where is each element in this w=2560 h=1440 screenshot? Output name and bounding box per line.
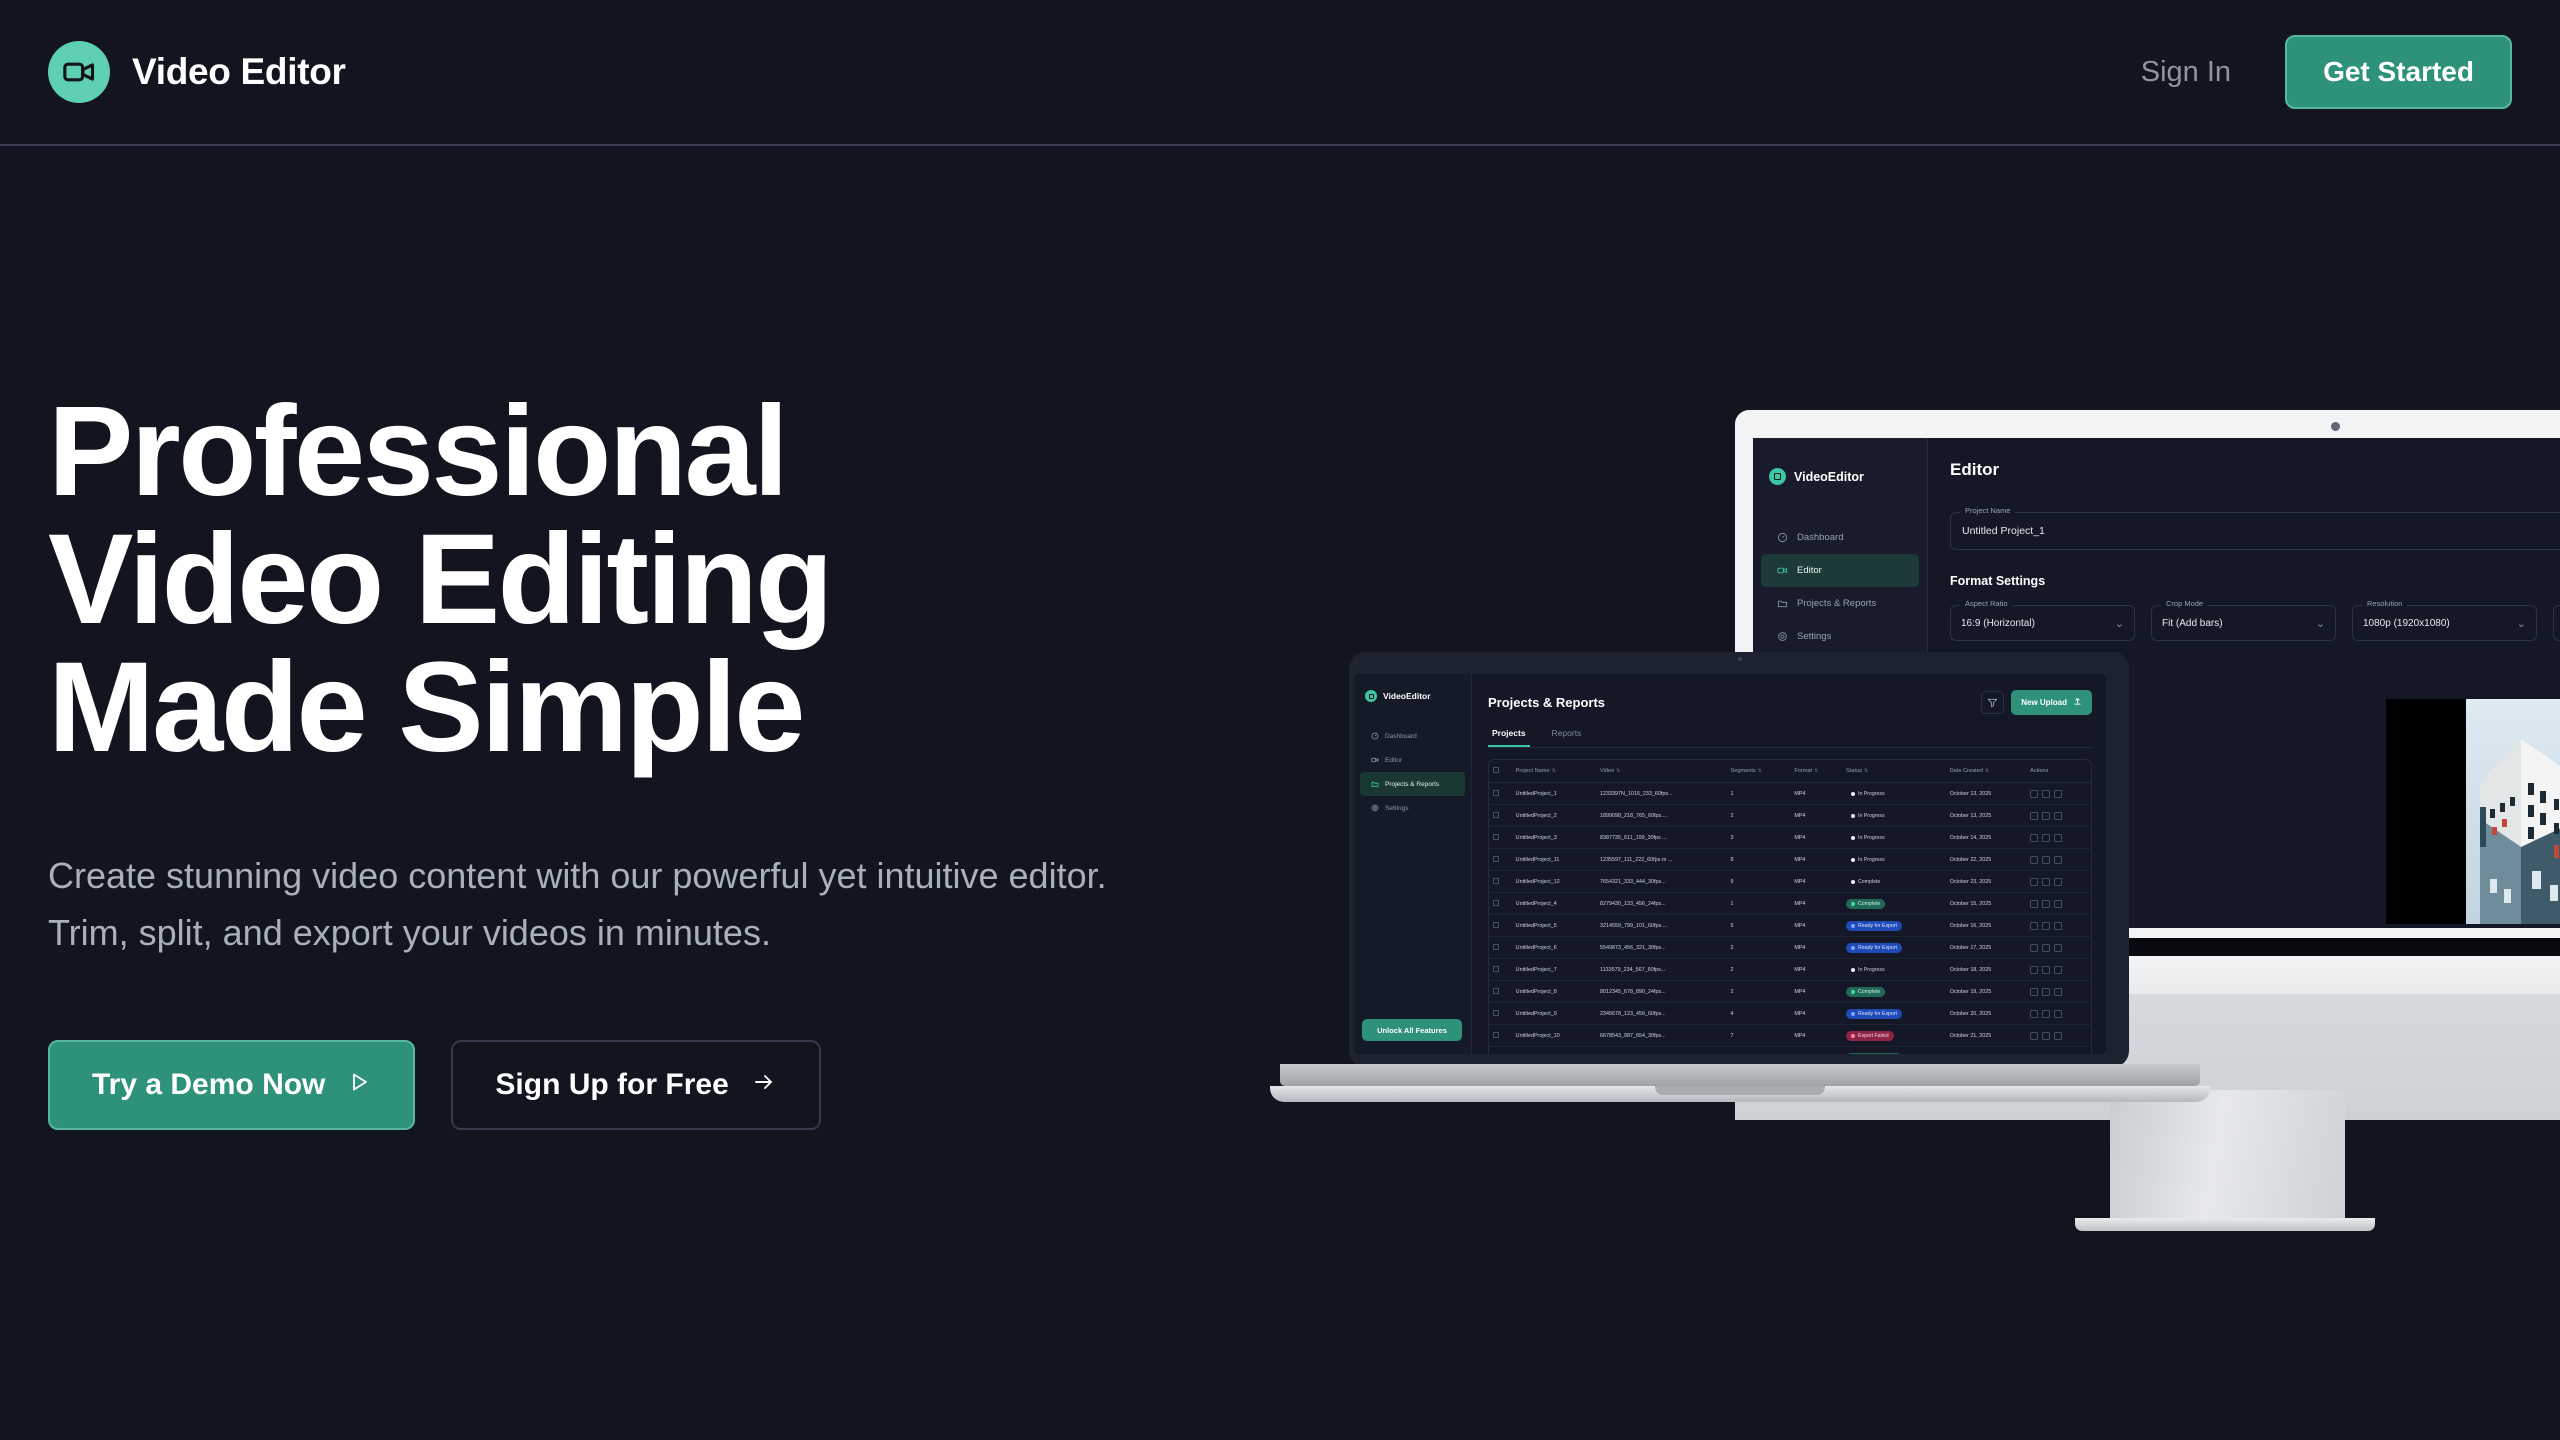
- cell-video: 1899098_218_765_60fps....: [1596, 805, 1727, 827]
- cell-format: MP4: [1790, 871, 1842, 893]
- video-frame-image: [2466, 699, 2560, 924]
- status-badge: In Progress: [1846, 811, 1890, 821]
- row-checkbox-cell[interactable]: [1489, 937, 1512, 959]
- upload-icon: [2073, 697, 2082, 708]
- row-checkbox-cell[interactable]: [1489, 893, 1512, 915]
- edit-icon[interactable]: [2030, 966, 2038, 974]
- edit-icon[interactable]: [2030, 1032, 2038, 1040]
- cell-video: 1235597_111_222_60fps.m ...: [1596, 849, 1727, 871]
- cell-segments: 3: [1727, 827, 1791, 849]
- delete-icon[interactable]: [2054, 1032, 2062, 1040]
- edit-icon[interactable]: [2030, 922, 2038, 930]
- sidebar-label: Dashboard: [1797, 532, 1843, 543]
- monitor-foot: [2075, 1218, 2375, 1231]
- download-icon[interactable]: [2042, 922, 2050, 930]
- cell-project-name: UntitledProject_9: [1512, 1003, 1596, 1025]
- row-checkbox[interactable]: [1493, 834, 1499, 840]
- cell-segments: 2: [1727, 959, 1791, 981]
- cell-format: MP4: [1790, 783, 1842, 805]
- edit-icon[interactable]: [2030, 856, 2038, 864]
- table-row[interactable]: UntitledProject_21899098_218_765_60fps..…: [1489, 805, 2091, 827]
- cell-format: MP4: [1790, 959, 1842, 981]
- cell-video: 7654321_333_444_30fps...: [1596, 871, 1727, 893]
- cell-status: In Progress: [1842, 805, 1946, 827]
- row-checkbox[interactable]: [1493, 856, 1499, 862]
- cell-status: Ready for Export: [1842, 1047, 1946, 1055]
- sidebar-item-projects-reports[interactable]: Projects & Reports: [1761, 587, 1919, 620]
- filter-icon[interactable]: [1981, 691, 2004, 714]
- product-mockup-illustration: VideoEditor Dashboard Editor Projects & …: [1340, 380, 2560, 1260]
- tab-reports[interactable]: Reports: [1548, 728, 1586, 747]
- cell-actions[interactable]: [2026, 981, 2091, 1003]
- cell-project-name: UntitledProject_8: [1512, 981, 1596, 1003]
- cell-segments: 7: [1727, 1025, 1791, 1047]
- folder-icon: [1371, 780, 1379, 788]
- table-row[interactable]: UntitledProject_48279430_133_456_24fps..…: [1489, 893, 2091, 915]
- table-row[interactable]: UntitledProject_11233397N_1015_233_60fps…: [1489, 783, 2091, 805]
- column-header[interactable]: Status⇅: [1842, 760, 1946, 783]
- download-icon[interactable]: [2042, 812, 2050, 820]
- chevron-down-icon: ⌄: [2517, 617, 2526, 630]
- cell-video: 2345678_123_456_60fps...: [1596, 1003, 1727, 1025]
- row-checkbox[interactable]: [1493, 988, 1499, 994]
- edit-icon[interactable]: [2030, 988, 2038, 996]
- status-badge: Complete: [1846, 877, 1885, 887]
- status-badge: In Progress: [1846, 855, 1890, 865]
- sort-icon[interactable]: ⇅: [1758, 768, 1762, 774]
- column-header[interactable]: Video⇅: [1596, 760, 1727, 783]
- hero-section: Professional Video Editing Made Simple C…: [48, 388, 1198, 1130]
- app-name: VideoEditor: [1383, 691, 1431, 701]
- projects-header-actions: New Upload: [1981, 690, 2092, 715]
- status-dot-icon: [1851, 946, 1855, 950]
- sort-icon[interactable]: ⇅: [1814, 768, 1818, 774]
- laptop-base: [1280, 1064, 2200, 1086]
- download-icon[interactable]: [2042, 790, 2050, 798]
- delete-icon[interactable]: [2054, 790, 2062, 798]
- folder-icon: [1777, 598, 1788, 609]
- laptop-mockup: VideoEditor Dashboard Editor Projects & …: [1340, 652, 2140, 1122]
- sidebar-label: Settings: [1385, 805, 1409, 812]
- sort-icon[interactable]: ⇅: [1552, 768, 1556, 774]
- cell-segments: 10: [1727, 1047, 1791, 1055]
- select-all-checkbox[interactable]: [1493, 767, 1499, 773]
- hero-line-1: Professional: [48, 388, 1198, 516]
- monitor-stand: [2110, 1090, 2345, 1220]
- cell-format: MP4: [1790, 981, 1842, 1003]
- gauge-icon: [1371, 732, 1379, 740]
- cell-segments: 1: [1727, 783, 1791, 805]
- cell-format: MP4: [1790, 915, 1842, 937]
- gear-icon: [1777, 631, 1788, 642]
- status-dot-icon: [1851, 924, 1855, 928]
- download-icon[interactable]: [2042, 1010, 2050, 1018]
- cell-video: 8012345_678_890_24fps...: [1596, 981, 1727, 1003]
- hero-line-3: Made Simple: [48, 644, 1198, 772]
- cell-status: Ready for Export: [1842, 937, 1946, 959]
- edit-icon[interactable]: [2030, 944, 2038, 952]
- download-icon[interactable]: [2042, 1054, 2050, 1055]
- row-checkbox[interactable]: [1493, 900, 1499, 906]
- delete-icon[interactable]: [2054, 922, 2062, 930]
- cell-date-created: October 18, 2025: [1946, 959, 2026, 981]
- cell-format: MP4: [1790, 805, 1842, 827]
- header-actions: Sign In Get Started: [2141, 35, 2512, 109]
- download-icon[interactable]: [2042, 944, 2050, 952]
- sidebar-item-editor[interactable]: Editor: [1360, 748, 1465, 772]
- column-header[interactable]: Format⇅: [1790, 760, 1842, 783]
- play-triangle-icon: [347, 1068, 371, 1102]
- table-row[interactable]: UntitledProject_65549873_456_321_30fps..…: [1489, 937, 2091, 959]
- cell-status: In Progress: [1842, 827, 1946, 849]
- chevron-down-icon: ⌄: [2316, 617, 2325, 630]
- laptop-camera-icon: [1701, 652, 1779, 665]
- row-checkbox[interactable]: [1493, 812, 1499, 818]
- status-badge: Complete: [1846, 899, 1885, 909]
- cell-date-created: October 13, 2025: [1946, 805, 2026, 827]
- editor-titlebar: Editor Save Exp: [1950, 460, 2560, 494]
- editor-page-title: Editor: [1950, 460, 1999, 480]
- cell-project-name: UntitledProject_1: [1512, 783, 1596, 805]
- cell-segments: 2: [1727, 981, 1791, 1003]
- delete-icon[interactable]: [2054, 834, 2062, 842]
- table-row[interactable]: UntitledProject_92345678_123_456_60fps..…: [1489, 1003, 2091, 1025]
- laptop-notch-base: [1655, 1086, 1825, 1095]
- cell-status: Ready for Export: [1842, 1003, 1946, 1025]
- cell-project-name: UntitledProject_13: [1512, 1047, 1596, 1055]
- status-badge: In Progress: [1846, 833, 1890, 843]
- sidebar-item-editor[interactable]: Editor: [1761, 554, 1919, 587]
- sidebar-item-settings[interactable]: Settings: [1360, 796, 1465, 820]
- cell-date-created: October 13, 2025: [1946, 783, 2026, 805]
- edit-icon[interactable]: [2030, 1010, 2038, 1018]
- sort-icon[interactable]: ⇅: [1985, 768, 1989, 774]
- cell-status: Complete: [1842, 871, 1946, 893]
- status-dot-icon: [1851, 990, 1855, 994]
- table-row[interactable]: UntitledProject_71133579_234_567_60fps..…: [1489, 959, 2091, 981]
- brand-name: Video Editor: [132, 51, 346, 93]
- cell-actions[interactable]: [2026, 871, 2091, 893]
- cell-segments: 2: [1727, 937, 1791, 959]
- cell-format: MP4: [1790, 1003, 1842, 1025]
- status-dot-icon: [1851, 1034, 1855, 1038]
- hero-line-2: Video Editing: [48, 516, 1198, 644]
- video-camera-icon: [1371, 756, 1379, 764]
- try-demo-label: Try a Demo Now: [92, 1068, 325, 1102]
- delete-icon[interactable]: [2054, 812, 2062, 820]
- row-checkbox-cell[interactable]: [1489, 959, 1512, 981]
- tab-projects[interactable]: Projects: [1488, 728, 1530, 747]
- gauge-icon: [1777, 532, 1788, 543]
- cell-actions[interactable]: [2026, 1047, 2091, 1055]
- app-logo-icon: [1769, 468, 1786, 485]
- download-icon[interactable]: [2042, 900, 2050, 908]
- cell-status: Complete: [1842, 981, 1946, 1003]
- download-icon[interactable]: [2042, 878, 2050, 886]
- sidebar-label: Projects & Reports: [1797, 598, 1876, 609]
- page-title: Professional Video Editing Made Simple: [48, 388, 1198, 772]
- cell-format: MP4: [1790, 1025, 1842, 1047]
- cell-format: MP4: [1790, 893, 1842, 915]
- project-name-input[interactable]: Untitled Project_1: [1950, 512, 2560, 550]
- cell-actions[interactable]: [2026, 959, 2091, 981]
- format-settings-heading: Format Settings: [1950, 574, 2560, 588]
- row-checkbox-cell[interactable]: [1489, 871, 1512, 893]
- table-row[interactable]: UntitledProject_38387735_611_199_30fps .…: [1489, 827, 2091, 849]
- cell-status: Ready for Export: [1842, 915, 1946, 937]
- projects-tabs: Projects Reports: [1488, 728, 2092, 748]
- hero-subtitle: Create stunning video content with our p…: [48, 848, 1128, 962]
- edit-icon[interactable]: [2030, 790, 2038, 798]
- table-row[interactable]: UntitledProject_88012345_678_890_24fps..…: [1489, 981, 2091, 1003]
- cell-project-name: UntitledProject_4: [1512, 893, 1596, 915]
- status-dot-icon: [1851, 880, 1855, 884]
- sign-up-label: Sign Up for Free: [495, 1068, 728, 1102]
- cell-segments: 2: [1727, 805, 1791, 827]
- row-checkbox-cell[interactable]: [1489, 981, 1512, 1003]
- brand[interactable]: Video Editor: [48, 41, 346, 103]
- cell-video: 8279430_133_456_24fps...: [1596, 893, 1727, 915]
- site-header: Video Editor Sign In Get Started: [0, 0, 2560, 146]
- cell-actions[interactable]: [2026, 1003, 2091, 1025]
- cell-video: 1133579_234_567_60fps...: [1596, 959, 1727, 981]
- format-settings-grid: Aspect Ratio 16:9 (Horizontal) ⌄ Crop Mo…: [1950, 605, 2560, 641]
- cell-date-created: October 16, 2025: [1946, 915, 2026, 937]
- download-icon[interactable]: [2042, 834, 2050, 842]
- sidebar-label: Settings: [1797, 631, 1831, 642]
- cell-actions[interactable]: [2026, 805, 2091, 827]
- cell-date-created: October 23, 2025: [1946, 871, 2026, 893]
- sidebar-label: Dashboard: [1385, 733, 1417, 740]
- cell-project-name: UntitledProject_5: [1512, 915, 1596, 937]
- delete-icon[interactable]: [2054, 988, 2062, 996]
- row-checkbox[interactable]: [1493, 790, 1499, 796]
- delete-icon[interactable]: [2054, 944, 2062, 952]
- cell-date-created: October 20, 2025: [1946, 1003, 2026, 1025]
- cell-actions[interactable]: [2026, 849, 2091, 871]
- row-checkbox[interactable]: [1493, 944, 1499, 950]
- delete-icon[interactable]: [2054, 856, 2062, 864]
- crop-mode-label: Crop Mode: [2161, 599, 2208, 608]
- cell-status: In Progress: [1842, 849, 1946, 871]
- edit-icon[interactable]: [2030, 834, 2038, 842]
- cell-actions[interactable]: [2026, 827, 2091, 849]
- edit-icon[interactable]: [2030, 812, 2038, 820]
- sidebar-item-settings[interactable]: Settings: [1761, 620, 1919, 653]
- status-badge: Export Failed: [1846, 1031, 1894, 1041]
- resolution-select[interactable]: Resolution 1080p (1920x1080) ⌄: [2352, 605, 2537, 641]
- status-dot-icon: [1851, 1012, 1855, 1016]
- projects-main: Projects & Reports New Upload: [1472, 674, 2106, 1054]
- table-row[interactable]: UntitledProject_111235597_111_222_60fps.…: [1489, 849, 2091, 871]
- resolution-value: 1080p (1920x1080): [2363, 618, 2450, 629]
- cell-actions[interactable]: [2026, 893, 2091, 915]
- delete-icon[interactable]: [2054, 966, 2062, 974]
- row-checkbox-cell[interactable]: [1489, 915, 1512, 937]
- app-name: VideoEditor: [1794, 470, 1864, 484]
- delete-icon[interactable]: [2054, 900, 2062, 908]
- projects-header: Projects & Reports New Upload: [1488, 690, 2092, 715]
- status-dot-icon: [1851, 858, 1855, 862]
- row-checkbox-cell[interactable]: [1489, 1025, 1512, 1047]
- status-badge: Ready for Export: [1846, 921, 1902, 931]
- cell-video: 5549873_456_321_30fps...: [1596, 937, 1727, 959]
- get-started-button[interactable]: Get Started: [2285, 35, 2512, 109]
- cta-row: Try a Demo Now Sign Up for Free: [48, 1040, 1198, 1130]
- video-camera-icon: [48, 41, 110, 103]
- row-checkbox-cell[interactable]: [1489, 1047, 1512, 1055]
- sign-up-button[interactable]: Sign Up for Free: [451, 1040, 820, 1130]
- column-header[interactable]: Date Created⇅: [1946, 760, 2026, 783]
- download-icon[interactable]: [2042, 1032, 2050, 1040]
- cell-video: 1357924_555_666_60fps ...: [1596, 1047, 1727, 1055]
- cell-project-name: UntitledProject_2: [1512, 805, 1596, 827]
- row-checkbox-cell[interactable]: [1489, 849, 1512, 871]
- row-checkbox-cell[interactable]: [1489, 1003, 1512, 1025]
- cell-date-created: October 17, 2025: [1946, 937, 2026, 959]
- cell-segments: 8: [1727, 849, 1791, 871]
- status-badge: In Progress: [1846, 789, 1890, 799]
- download-icon[interactable]: [2042, 988, 2050, 996]
- cell-format: MP4: [1790, 849, 1842, 871]
- crop-mode-select[interactable]: Crop Mode Fit (Add bars) ⌄: [2151, 605, 2336, 641]
- table-row[interactable]: UntitledProject_53214559_799_101_60fps..…: [1489, 915, 2091, 937]
- gear-icon: [1371, 804, 1379, 812]
- sign-in-button[interactable]: Sign In: [2141, 56, 2231, 89]
- column-header[interactable]: Actions: [2026, 760, 2091, 783]
- new-upload-label: New Upload: [2021, 698, 2067, 707]
- table-row[interactable]: UntitledProject_106678543_987_654_30fps.…: [1489, 1025, 2091, 1047]
- edit-icon[interactable]: [2030, 878, 2038, 886]
- aspect-ratio-label: Aspect Ratio: [1960, 599, 2013, 608]
- column-header[interactable]: Project Name⇅: [1512, 760, 1596, 783]
- row-checkbox[interactable]: [1493, 1032, 1499, 1038]
- delete-icon[interactable]: [2054, 1010, 2062, 1018]
- cell-status: Export Failed: [1842, 1025, 1946, 1047]
- cell-project-name: UntitledProject_7: [1512, 959, 1596, 981]
- delete-icon[interactable]: [2054, 1054, 2062, 1055]
- app-logo-icon: [1365, 690, 1377, 702]
- status-dot-icon: [1851, 836, 1855, 840]
- table-header-row: Project Name⇅Video⇅Segments⇅Format⇅Statu…: [1489, 760, 2091, 783]
- cell-project-name: UntitledProject_10: [1512, 1025, 1596, 1047]
- cell-format: MP4: [1790, 937, 1842, 959]
- column-header[interactable]: Segments⇅: [1727, 760, 1791, 783]
- cell-video: 3214559_799_101_60fps....: [1596, 915, 1727, 937]
- cell-actions[interactable]: [2026, 937, 2091, 959]
- row-checkbox[interactable]: [1493, 922, 1499, 928]
- row-checkbox[interactable]: [1493, 966, 1499, 972]
- video-player[interactable]: [2386, 699, 2560, 924]
- row-checkbox-cell[interactable]: [1489, 805, 1512, 827]
- cell-format: MP4: [1790, 827, 1842, 849]
- cell-segments: 4: [1727, 1003, 1791, 1025]
- export-speed-select[interactable]: Export Speed Quality (Recommended) ⌄: [2553, 605, 2560, 641]
- try-demo-button[interactable]: Try a Demo Now: [48, 1040, 415, 1130]
- cell-actions[interactable]: [2026, 1025, 2091, 1047]
- editor-brand: VideoEditor: [1753, 468, 1927, 485]
- projects-page-title: Projects & Reports: [1488, 695, 1605, 710]
- cell-date-created: October 15, 2025: [1946, 893, 2026, 915]
- cell-project-name: UntitledProject_11: [1512, 849, 1596, 871]
- download-icon[interactable]: [2042, 966, 2050, 974]
- unlock-all-features-button[interactable]: Unlock All Features: [1362, 1019, 1462, 1041]
- status-badge: Ready for Export: [1846, 943, 1902, 953]
- aspect-ratio-select[interactable]: Aspect Ratio 16:9 (Horizontal) ⌄: [1950, 605, 2135, 641]
- chevron-down-icon: ⌄: [2115, 617, 2124, 630]
- cell-date-created: October 24, 2025: [1946, 1047, 2026, 1055]
- project-name-label: Project Name: [1960, 506, 2015, 515]
- cell-date-created: October 21, 2025: [1946, 1025, 2026, 1047]
- row-checkbox-cell[interactable]: [1489, 783, 1512, 805]
- row-checkbox-cell[interactable]: [1489, 827, 1512, 849]
- cell-video: 1233397N_1015_233_60fps...: [1596, 783, 1727, 805]
- status-badge: Complete: [1846, 987, 1885, 997]
- cell-actions[interactable]: [2026, 915, 2091, 937]
- laptop-brand: VideoEditor: [1354, 690, 1471, 702]
- cell-video: 8387735_611_199_30fps ...: [1596, 827, 1727, 849]
- column-header[interactable]: [1489, 760, 1512, 783]
- cell-date-created: October 14, 2025: [1946, 827, 2026, 849]
- cell-format: MP4: [1790, 1047, 1842, 1055]
- status-dot-icon: [1851, 792, 1855, 796]
- table-row[interactable]: UntitledProject_127654321_333_444_30fps.…: [1489, 871, 2091, 893]
- aspect-ratio-value: 16:9 (Horizontal): [1961, 618, 2035, 629]
- status-badge: In Progress: [1846, 965, 1890, 975]
- status-dot-icon: [1851, 968, 1855, 972]
- sidebar-item-dashboard[interactable]: Dashboard: [1761, 521, 1919, 554]
- row-checkbox[interactable]: [1493, 1010, 1499, 1016]
- cell-video: 6678543_987_654_30fps...: [1596, 1025, 1727, 1047]
- project-name-field[interactable]: Project Name Untitled Project_1: [1950, 512, 2560, 550]
- cell-actions[interactable]: [2026, 783, 2091, 805]
- cell-status: Complete: [1842, 893, 1946, 915]
- cell-segments: 1: [1727, 893, 1791, 915]
- new-upload-button[interactable]: New Upload: [2011, 690, 2092, 715]
- cell-date-created: October 22, 2025: [1946, 849, 2026, 871]
- edit-icon[interactable]: [2030, 1054, 2038, 1055]
- delete-icon[interactable]: [2054, 878, 2062, 886]
- cell-project-name: UntitledProject_3: [1512, 827, 1596, 849]
- sidebar-item-projects-reports[interactable]: Projects & Reports: [1360, 772, 1465, 796]
- landing-page: Video Editor Sign In Get Started Profess…: [0, 0, 2560, 1440]
- sidebar-label: Projects & Reports: [1385, 781, 1439, 788]
- crop-mode-value: Fit (Add bars): [2162, 618, 2223, 629]
- row-checkbox[interactable]: [1493, 1054, 1499, 1055]
- sort-icon[interactable]: ⇅: [1864, 768, 1868, 774]
- table-body: UntitledProject_11233397N_1015_233_60fps…: [1489, 783, 2091, 1055]
- resolution-label: Resolution: [2362, 599, 2407, 608]
- sidebar-label: Editor: [1385, 757, 1402, 764]
- status-badge: Ready for Export: [1846, 1053, 1902, 1055]
- cell-segments: 5: [1727, 915, 1791, 937]
- download-icon[interactable]: [2042, 856, 2050, 864]
- cell-date-created: October 19, 2025: [1946, 981, 2026, 1003]
- projects-sidebar: VideoEditor Dashboard Editor Projects & …: [1354, 674, 1472, 1054]
- laptop-screen: VideoEditor Dashboard Editor Projects & …: [1354, 674, 2106, 1054]
- row-checkbox[interactable]: [1493, 878, 1499, 884]
- cell-project-name: UntitledProject_6: [1512, 937, 1596, 959]
- edit-icon[interactable]: [2030, 900, 2038, 908]
- cell-project-name: UntitledProject_12: [1512, 871, 1596, 893]
- sidebar-item-dashboard[interactable]: Dashboard: [1360, 724, 1465, 748]
- cell-status: In Progress: [1842, 959, 1946, 981]
- table-row[interactable]: UntitledProject_131357924_555_666_60fps …: [1489, 1047, 2091, 1055]
- projects-table: Project Name⇅Video⇅Segments⇅Format⇅Statu…: [1488, 759, 2092, 1054]
- sort-icon[interactable]: ⇅: [1616, 768, 1620, 774]
- sidebar-label: Editor: [1797, 565, 1822, 576]
- status-dot-icon: [1851, 902, 1855, 906]
